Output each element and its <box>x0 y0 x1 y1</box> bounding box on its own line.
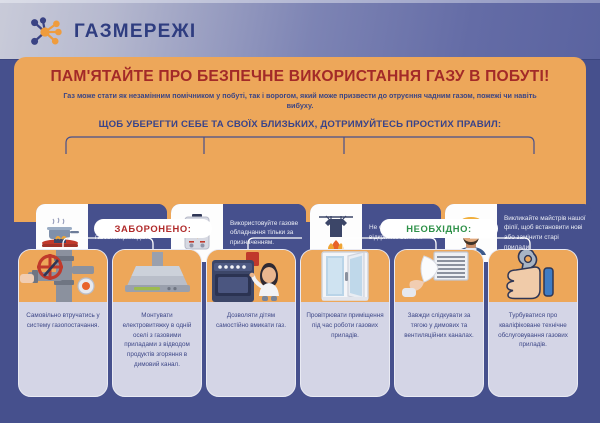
infographic-page: ГАЗМЕРЕЖІ ПАМ'ЯТАЙТЕ ПРО БЕЗПЕЧНЕ ВИКОРИ… <box>0 0 600 423</box>
detail-card-label: Самовільно втручатись у систему газопост… <box>19 302 107 396</box>
detail-card-label: Провітрювати приміщення під час роботи г… <box>301 302 389 396</box>
safety-banner-panel: ПАМ'ЯТАЙТЕ ПРО БЕЗПЕЧНЕ ВИКОРИСТАННЯ ГАЗ… <box>14 57 586 222</box>
top-connector-lines <box>14 133 586 153</box>
required-label-text: НЕОБХІДНО: <box>406 223 472 234</box>
detail-card-row: Самовільно втручатись у систему газопост… <box>18 249 584 397</box>
hand-with-wrench-icon <box>489 250 577 302</box>
brand-logo: ГАЗМЕРЕЖІ <box>26 16 196 48</box>
detail-card-label: Дозволяти дітям самостійно вмикати газ. <box>207 302 295 396</box>
detail-card-ventilate-room[interactable]: Провітрювати приміщення під час роботи г… <box>300 249 390 397</box>
open-window-icon <box>301 250 389 302</box>
detail-card-no-electric-hood[interactable]: Монтувати електровитяжку в одній оселі з… <box>112 249 202 397</box>
detail-card-label: Турбуватися про кваліфіковане технічне о… <box>489 302 577 396</box>
gas-pipe-valve-prohibited-icon <box>19 250 107 302</box>
kitchen-extractor-hood-icon <box>113 250 201 302</box>
banner-lead-text: Газ може стати як незамінним помічником … <box>60 91 540 112</box>
ventilation-grille-draft-test-icon <box>395 250 483 302</box>
gas-network-molecule-logo-icon <box>26 16 64 48</box>
detail-card-check-draft[interactable]: Завжди слідкувати за тягою у димових та … <box>394 249 484 397</box>
detail-card-label: Завжди слідкувати за тягою у димових та … <box>395 302 483 396</box>
detail-card-no-self-intervention[interactable]: Самовільно втручатись у систему газопост… <box>18 249 108 397</box>
detail-card-label: Монтувати електровитяжку в одній оселі з… <box>113 302 201 396</box>
detail-card-qualified-service[interactable]: Турбуватися про кваліфіковане технічне о… <box>488 249 578 397</box>
banner-title: ПАМ'ЯТАЙТЕ ПРО БЕЗПЕЧНЕ ВИКОРИСТАННЯ ГАЗ… <box>14 68 586 86</box>
detail-card-no-children-gas[interactable]: Дозволяти дітям самостійно вмикати газ. <box>206 249 296 397</box>
brand-name: ГАЗМЕРЕЖІ <box>74 21 196 43</box>
forbidden-label-text: ЗАБОРОНЕНО: <box>115 223 192 234</box>
page-header: ГАЗМЕРЕЖІ <box>0 0 600 60</box>
child-at-gas-stove-icon <box>207 250 295 302</box>
rules-heading: ЩОБ УБЕРЕГТИ СЕБЕ ТА СВОЇХ БЛИЗЬКИХ, ДОТ… <box>14 119 586 130</box>
